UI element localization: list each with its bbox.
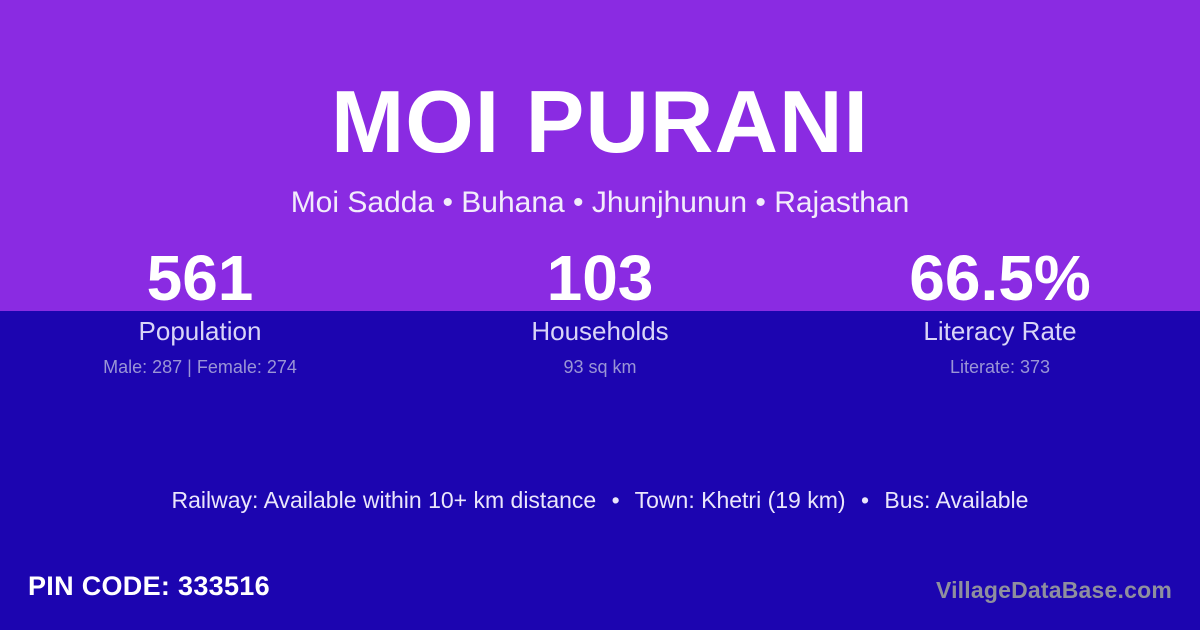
site-watermark: VillageDataBase.com: [936, 577, 1172, 604]
breadcrumb: Moi Sadda • Buhana • Jhunjhunun • Rajast…: [0, 186, 1200, 219]
population-breakdown: Male: 287 | Female: 274: [0, 357, 400, 378]
bullet-separator-icon: •: [852, 487, 878, 514]
population-label: Population: [0, 317, 400, 347]
stat-card-literacy: 66.5% Literacy Rate Literate: 373: [800, 246, 1200, 378]
households-value: 103: [400, 246, 800, 312]
stat-card-population: 561 Population Male: 287 | Female: 274: [0, 246, 400, 378]
population-value: 561: [0, 246, 400, 312]
village-header: MOI PURANI Moi Sadda • Buhana • Jhunjhun…: [0, 0, 1200, 219]
stat-card-households: 103 Households 93 sq km: [400, 246, 800, 378]
infrastructure-summary: Railway: Available within 10+ km distanc…: [0, 487, 1200, 514]
pin-code: PIN CODE: 333516: [28, 571, 270, 602]
page-title: MOI PURANI: [0, 78, 1200, 166]
bullet-separator-icon: •: [603, 487, 629, 514]
statistics-row: 561 Population Male: 287 | Female: 274 1…: [0, 246, 1200, 378]
nearest-town-info: Town: Khetri (19 km): [635, 487, 846, 513]
area-value: 93 sq km: [400, 357, 800, 378]
households-label: Households: [400, 317, 800, 347]
footer: PIN CODE: 333516 VillageDataBase.com: [0, 571, 1200, 616]
literacy-rate-label: Literacy Rate: [800, 317, 1200, 347]
literacy-rate-value: 66.5%: [800, 246, 1200, 312]
bus-info: Bus: Available: [884, 487, 1028, 513]
literate-count: Literate: 373: [800, 357, 1200, 378]
railway-info: Railway: Available within 10+ km distanc…: [172, 487, 597, 513]
